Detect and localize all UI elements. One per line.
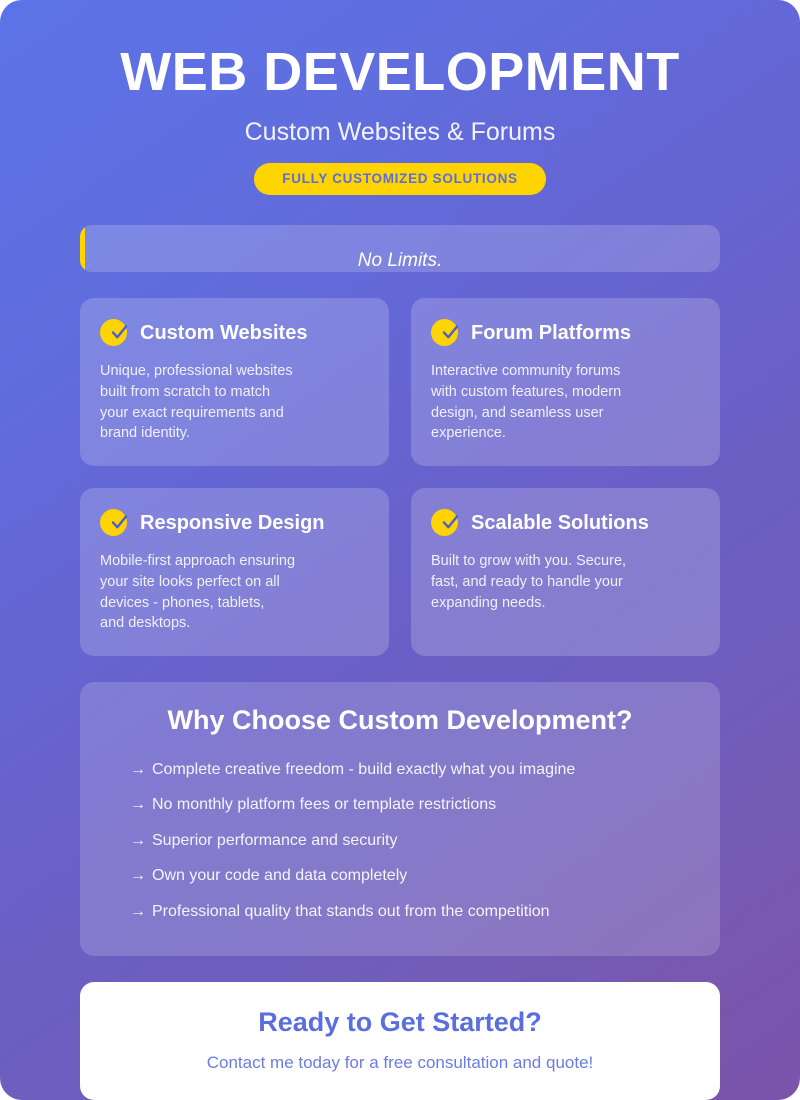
feature-grid: Custom Websites Unique, professional web… (80, 298, 720, 656)
page-title: WEB DEVELOPMENT (80, 44, 720, 101)
page-subtitle: Custom Websites & Forums (80, 117, 720, 147)
check-circle-icon (100, 508, 130, 538)
feature-card-body: Interactive community forums with custom… (431, 361, 700, 444)
quote-line-1: No Limits. (110, 247, 690, 272)
feature-card-body: Mobile-first approach ensuring your site… (100, 551, 369, 634)
feature-card-scalable-solutions: Scalable Solutions Built to grow with yo… (411, 488, 720, 656)
feature-card-header: Scalable Solutions (431, 508, 700, 538)
feature-card-forum-platforms: Forum Platforms Interactive community fo… (411, 298, 720, 466)
why-choose-heading: Why Choose Custom Development? (108, 704, 692, 736)
arrow-right-icon: → (130, 794, 146, 816)
cta-subtitle: Contact me today for a free consultation… (100, 1052, 700, 1074)
poster-root: WEB DEVELOPMENT Custom Websites & Forums… (0, 0, 800, 1100)
feature-card-body: Built to grow with you. Secure, fast, an… (431, 551, 700, 613)
check-circle-icon (431, 318, 461, 348)
arrow-right-icon: → (130, 830, 146, 852)
check-circle-icon (100, 318, 130, 348)
arrow-right-icon: → (130, 865, 146, 887)
status-badge: FULLY CUSTOMIZED SOLUTIONS (254, 163, 545, 196)
why-list-item-text: No monthly platform fees or template res… (152, 794, 496, 816)
feature-card-title: Scalable Solutions (471, 512, 649, 535)
why-list-item-text: Superior performance and security (152, 830, 397, 852)
why-choose-section: Why Choose Custom Development? → Complet… (80, 682, 720, 955)
feature-card-custom-websites: Custom Websites Unique, professional web… (80, 298, 389, 466)
cta-card[interactable]: Ready to Get Started? Contact me today f… (80, 982, 720, 1100)
feature-card-header: Forum Platforms (431, 318, 700, 348)
why-list-item: → No monthly platform fees or template r… (108, 787, 692, 823)
badge-row: FULLY CUSTOMIZED SOLUTIONS (80, 163, 720, 196)
feature-card-title: Responsive Design (140, 512, 325, 535)
feature-card-header: Custom Websites (100, 318, 369, 348)
why-list-item: → Professional quality that stands out f… (108, 894, 692, 930)
why-list-item-text: Complete creative freedom - build exactl… (152, 759, 575, 781)
feature-card-title: Custom Websites (140, 322, 307, 345)
why-list-item: → Superior performance and security (108, 823, 692, 859)
why-list-item-text: Professional quality that stands out fro… (152, 901, 550, 923)
feature-card-title: Forum Platforms (471, 322, 631, 345)
check-circle-icon (431, 508, 461, 538)
feature-card-body: Unique, professional websites built from… (100, 361, 369, 444)
why-list-item: → Complete creative freedom - build exac… (108, 752, 692, 788)
feature-card-header: Responsive Design (100, 508, 369, 538)
why-list-item: → Own your code and data completely (108, 858, 692, 894)
header-section: WEB DEVELOPMENT Custom Websites & Forums… (80, 0, 720, 195)
arrow-right-icon: → (130, 759, 146, 781)
quote-banner: No Limits. Just Your Vision. (80, 225, 720, 272)
why-list-item-text: Own your code and data completely (152, 865, 407, 887)
arrow-right-icon: → (130, 901, 146, 923)
cta-title: Ready to Get Started? (100, 1006, 700, 1038)
feature-card-responsive-design: Responsive Design Mobile-first approach … (80, 488, 389, 656)
quote-accent-bar (80, 225, 85, 272)
